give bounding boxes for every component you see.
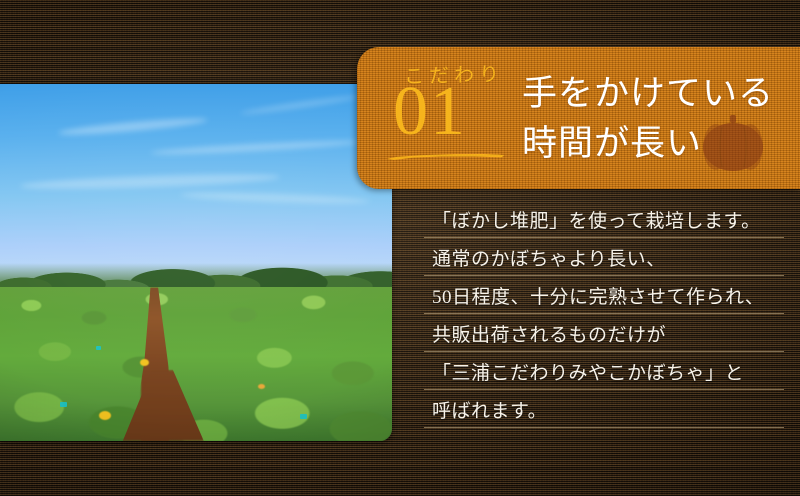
body-text-line: 50日程度、十分に完熟させて作られ、 xyxy=(424,276,784,314)
kodawari-banner: こだわり 01 手をかけている 時間が長い xyxy=(357,47,800,189)
body-text-line-6: 呼ばれます。 xyxy=(432,396,547,423)
page-root: こだわり 01 手をかけている 時間が長い 「ぼかし堆肥」を使って栽培します。 xyxy=(0,0,800,496)
body-text-line: 「三浦こだわりみやこかぼちゃ」と xyxy=(424,352,784,390)
body-text-line: 通常のかぼちゃより長い、 xyxy=(424,238,784,276)
body-text-line-3: 50日程度、十分に完熟させて作られ、 xyxy=(432,282,764,309)
body-text-line: 「ぼかし堆肥」を使って栽培します。 xyxy=(424,199,784,238)
body-text-line-4: 共販出荷されるものだけが xyxy=(432,320,666,347)
body-text-block: 「ぼかし堆肥」を使って栽培します。 通常のかぼちゃより長い、 50日程度、十分に… xyxy=(424,199,784,428)
body-text-line-5: 「三浦こだわりみやこかぼちゃ」と xyxy=(432,358,744,385)
pumpkin-field-photo xyxy=(0,84,392,441)
body-text-line: 共販出荷されるものだけが xyxy=(424,314,784,352)
body-text-line-2: 通常のかぼちゃより長い、 xyxy=(432,244,666,271)
body-text-line-1: 「ぼかし堆肥」を使って栽培します。 xyxy=(432,206,761,233)
body-text-line: 呼ばれます。 xyxy=(424,390,784,428)
pumpkin-icon xyxy=(702,115,764,171)
banner-number: 01 xyxy=(393,77,467,147)
brush-underline xyxy=(387,153,505,162)
banner-headline-line-1: 手をかけている xyxy=(522,69,800,119)
photo-shading xyxy=(0,84,392,441)
